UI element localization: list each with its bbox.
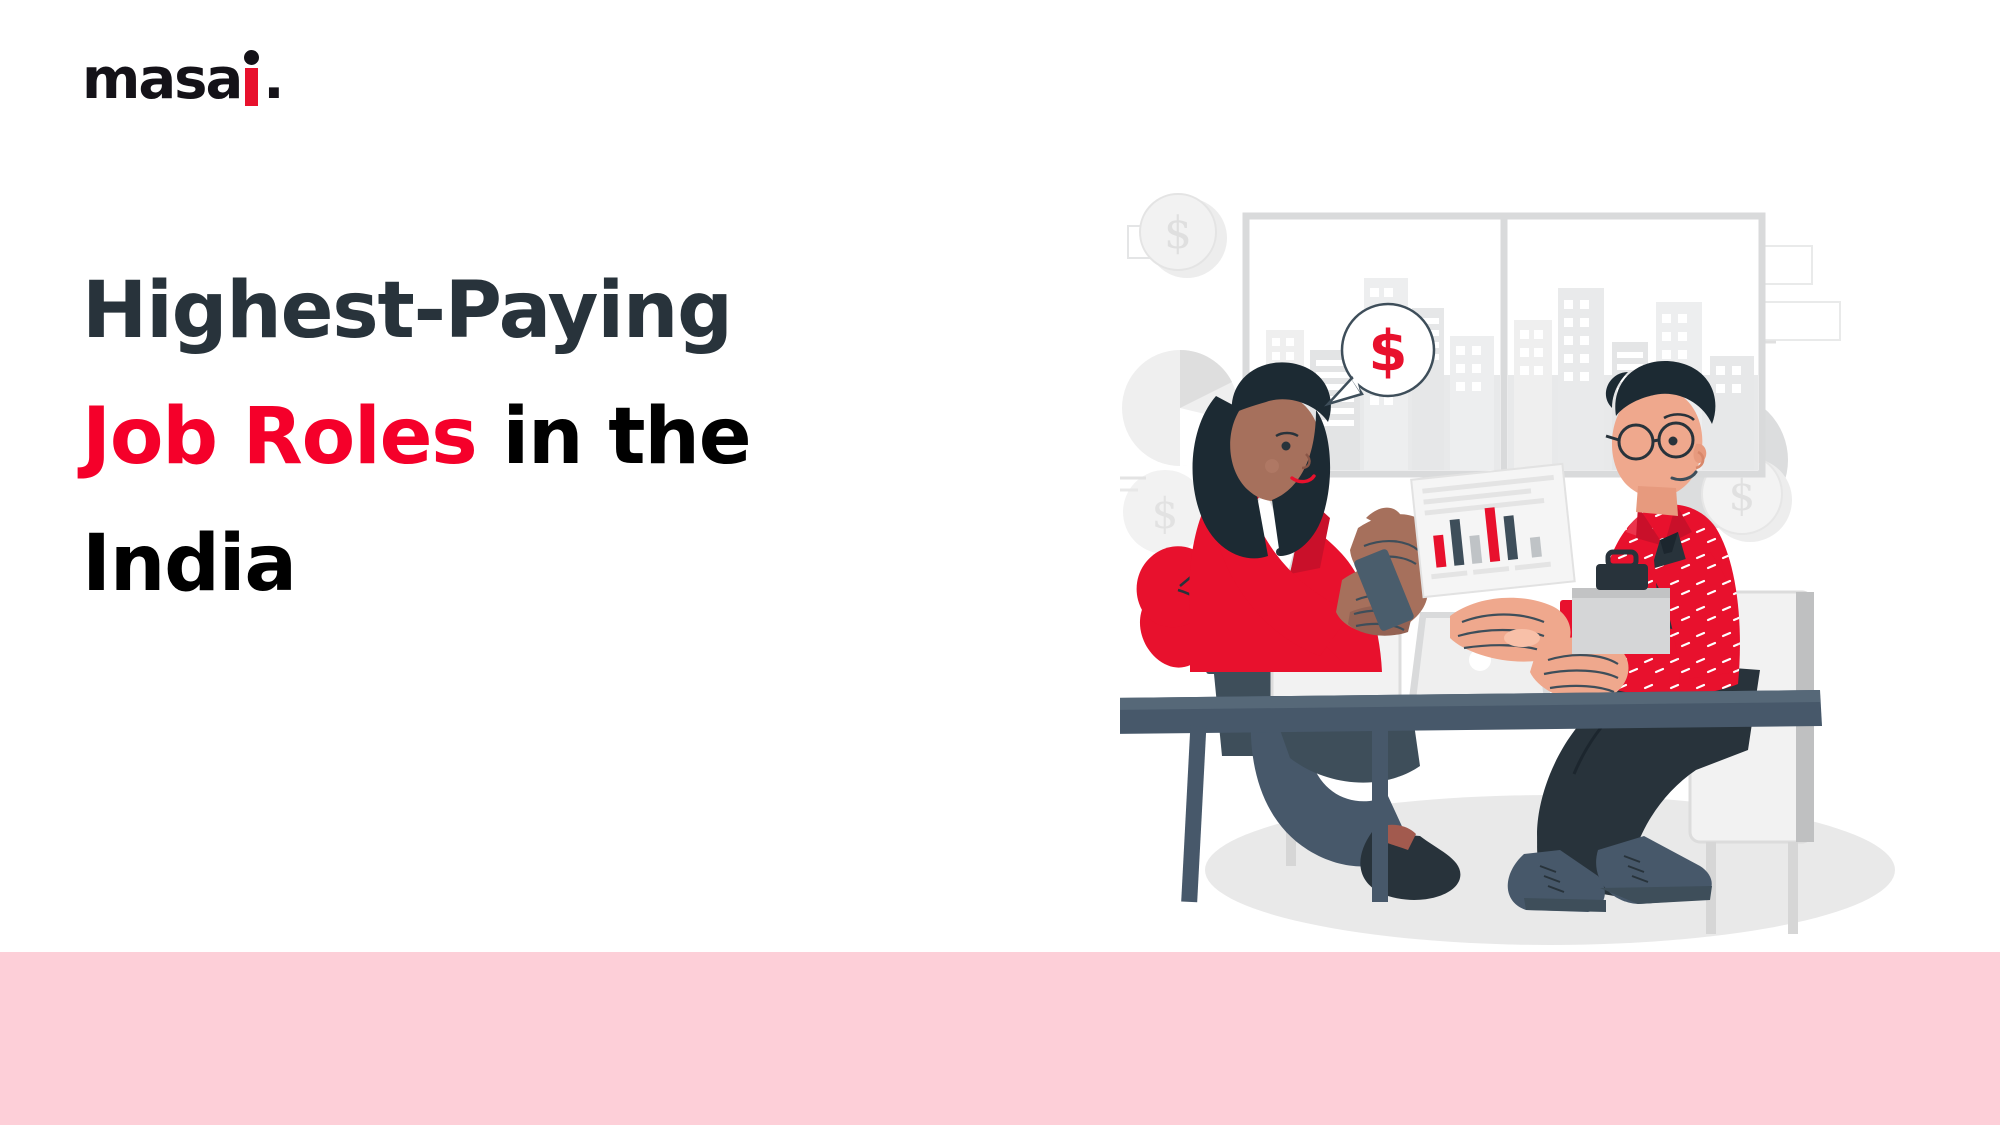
dollar-symbol-text: $ (1369, 319, 1408, 384)
logo-i-dot-icon (244, 50, 259, 65)
logo-i-letter (242, 48, 261, 108)
page-title: Highest-Paying Job Roles in the India (82, 248, 902, 627)
svg-text:$: $ (1152, 489, 1179, 538)
dollar-coin-icon: $ (1140, 194, 1227, 278)
headline-line-1: Highest-Paying (82, 248, 902, 374)
headline-line-2-rest: in the (477, 392, 751, 482)
svg-text:$: $ (1164, 208, 1192, 259)
hero-illustration: $ (1120, 160, 1980, 960)
headline-line-3: India (82, 501, 902, 627)
logo-wordmark: masa (82, 52, 241, 108)
eye-woman (1282, 442, 1291, 451)
desk-leg (1181, 726, 1206, 903)
desk-leg (1372, 726, 1388, 902)
document-bar-chart (1411, 464, 1575, 597)
logo-i-stem (245, 68, 258, 106)
footer-color-band (0, 952, 2000, 1125)
logo-period: . (263, 52, 284, 108)
headline-line-3-text: India (82, 519, 296, 609)
eye-man (1669, 437, 1678, 446)
masai-logo[interactable]: masa . (82, 48, 285, 108)
headline-line-1-text: Highest-Paying (82, 266, 732, 356)
headline-line-2: Job Roles in the (82, 374, 902, 500)
slide-canvas: masa . Highest-Paying Job Roles in the I… (0, 0, 2000, 1125)
svg-text:$: $ (1729, 471, 1756, 520)
headline-highlight-text: Job Roles (82, 392, 477, 482)
